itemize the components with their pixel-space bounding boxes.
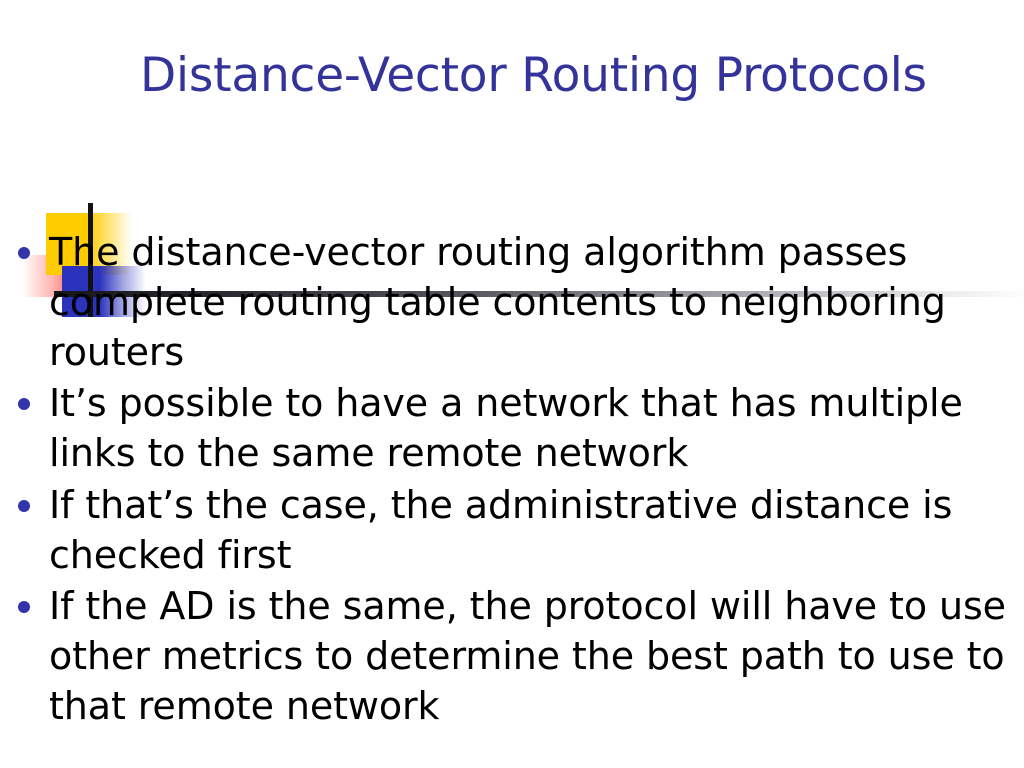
presentation-slide: Distance-Vector Routing Protocols The di…: [0, 0, 1024, 768]
slide-title: Distance-Vector Routing Protocols: [140, 44, 940, 109]
bullet-dot-icon: [18, 500, 30, 512]
bullet-dot-icon: [18, 247, 30, 259]
list-item-text: The distance-vector routing algorithm pa…: [49, 228, 1024, 377]
slide-body-bullet-list: The distance-vector routing algorithm pa…: [0, 228, 1024, 734]
list-item: If that’s the case, the administrative d…: [0, 481, 1024, 581]
slide-header-decoration: [0, 95, 1024, 227]
list-item: The distance-vector routing algorithm pa…: [0, 228, 1024, 377]
bullet-dot-icon: [18, 601, 30, 613]
bullet-dot-icon: [18, 398, 30, 410]
list-item-text: It’s possible to have a network that has…: [49, 379, 1024, 479]
list-item-text: If that’s the case, the administrative d…: [49, 481, 1024, 581]
list-item-text: If the AD is the same, the protocol will…: [49, 582, 1024, 731]
list-item: It’s possible to have a network that has…: [0, 379, 1024, 479]
list-item: If the AD is the same, the protocol will…: [0, 582, 1024, 731]
